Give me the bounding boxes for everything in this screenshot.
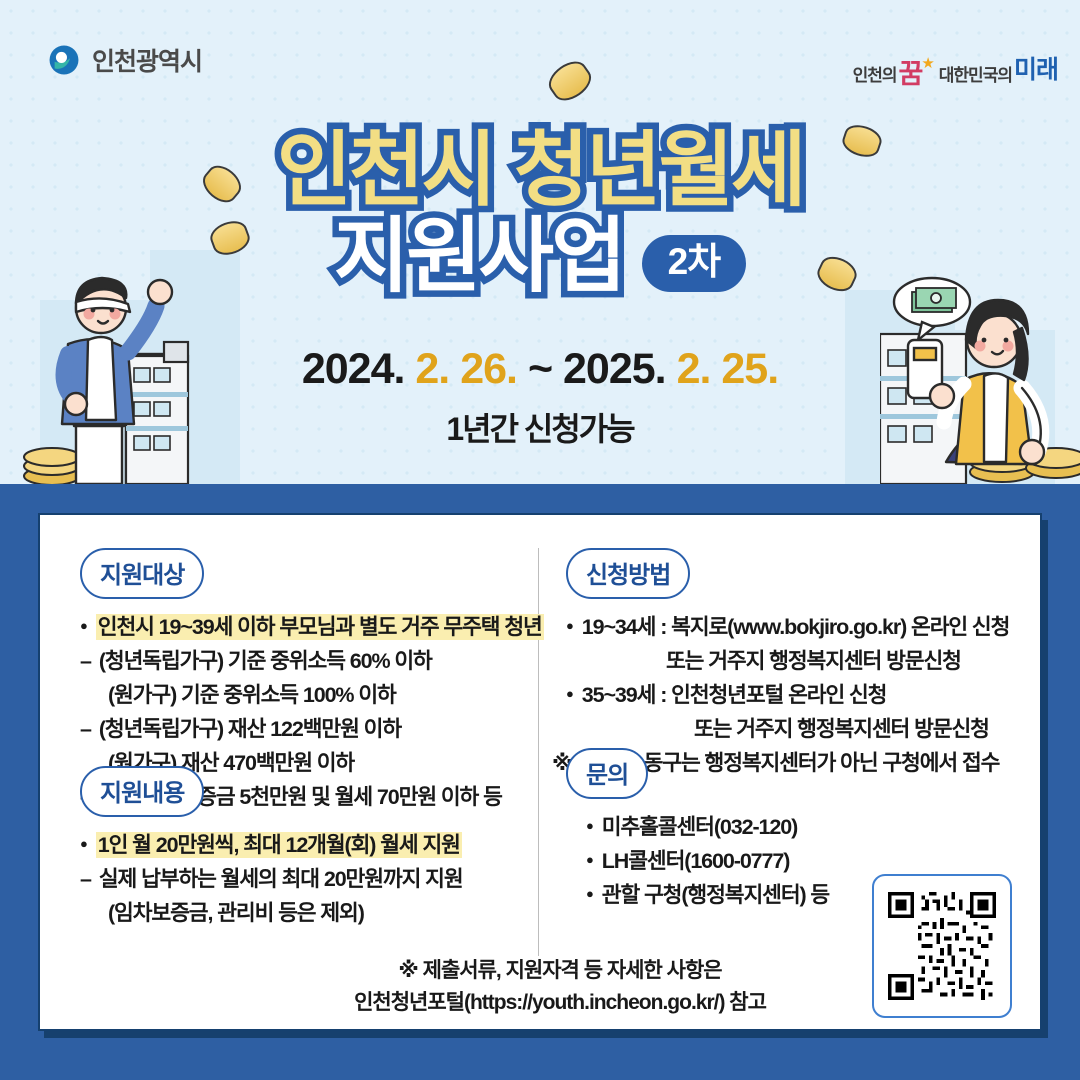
list-item: LH콜센터(1600-0777) — [586, 845, 829, 879]
slogan-dream: 꿈 — [898, 62, 921, 86]
round-badge: 2차 — [642, 235, 747, 292]
list-item: 또는 거주지 행정복지센터 방문신청 — [566, 713, 1009, 747]
list-item: 인천시 19~39세 이하 부모님과 별도 거주 무주택 청년 — [80, 611, 544, 645]
logo-mark-icon — [47, 43, 81, 77]
poster-title-line2: 지원사업 — [334, 216, 624, 298]
list-item: 실제 납부하는 월세의 최대 20만원까지 지원 — [80, 863, 463, 897]
list-item: (청년독립가구) 재산 122백만원 이하 — [80, 713, 544, 747]
illustration-young-man — [18, 268, 218, 484]
date-prefix: 2024. — [302, 345, 405, 393]
date-start: 2. 26. — [415, 345, 517, 393]
footer-note: ※ 제출서류, 지원자격 등 자세한 사항은 인천청년포털(https://yo… — [260, 955, 860, 1018]
footer-line2: 인천청년포털(https://youth.incheon.go.kr/) 참고 — [260, 987, 860, 1019]
slogan-part1: 인천의 — [853, 61, 897, 86]
list-item: (원가구) 기준 중위소득 100% 이하 — [80, 679, 544, 713]
poster-title-line1: 인천시 청년월세 — [0, 130, 1080, 212]
slogan-part2: 대한민국의 — [939, 61, 1012, 86]
list-item: (임차보증금, 관리비 등은 제외) — [80, 897, 463, 931]
list-item: 19~34세 : 복지로(www.bokjiro.go.kr) 온라인 신청 — [566, 611, 1009, 645]
slogan-future: 미래 — [1014, 50, 1058, 86]
date-tilde: ~ 2025. — [528, 345, 666, 393]
section-support-content: 지원내용 1인 월 20만원씩, 최대 12개월(회) 월세 지원 실제 납부하… — [80, 766, 463, 931]
qr-code-icon — [888, 892, 996, 1000]
poster-root: 인천광역시 인천의 꿈 ★ 대한민국의 미래 인천시 청년월세 지원사업 2차 … — [0, 0, 1080, 1080]
section-inquiry: 문의 미추홀콜센터(032-120) LH콜센터(1600-0777) 관할 구… — [566, 748, 829, 913]
footer-line1: ※ 제출서류, 지원자격 등 자세한 사항은 — [260, 955, 860, 987]
city-slogan: 인천의 꿈 ★ 대한민국의 미래 — [853, 50, 1058, 86]
star-icon: ★ — [921, 54, 934, 72]
section-label-support-target: 지원대상 — [80, 548, 204, 599]
section-how-to-apply: 신청방법 19~34세 : 복지로(www.bokjiro.go.kr) 온라인… — [566, 548, 1009, 781]
incheon-logo: 인천광역시 — [47, 42, 202, 78]
list-item: 1인 월 20만원씩, 최대 12개월(회) 월세 지원 — [80, 829, 463, 863]
section-label-support-content: 지원내용 — [80, 766, 204, 817]
list-item: 미추홀콜센터(032-120) — [586, 811, 829, 845]
list-item: 관할 구청(행정복지센터) 등 — [586, 879, 829, 913]
hero-section: 인천광역시 인천의 꿈 ★ 대한민국의 미래 인천시 청년월세 지원사업 2차 … — [0, 0, 1080, 484]
section-label-inquiry: 문의 — [566, 748, 648, 799]
qr-code-frame[interactable] — [872, 874, 1012, 1018]
date-end: 2. 25. — [677, 345, 779, 393]
list-item: 또는 거주지 행정복지센터 방문신청 — [566, 645, 1009, 679]
logo-text: 인천광역시 — [92, 42, 202, 78]
section-label-how-to-apply: 신청방법 — [566, 548, 690, 599]
list-item: 35~39세 : 인천청년포털 온라인 신청 — [566, 679, 1009, 713]
illustration-young-woman — [880, 276, 1080, 484]
list-item: (청년독립가구) 기준 중위소득 60% 이하 — [80, 645, 544, 679]
